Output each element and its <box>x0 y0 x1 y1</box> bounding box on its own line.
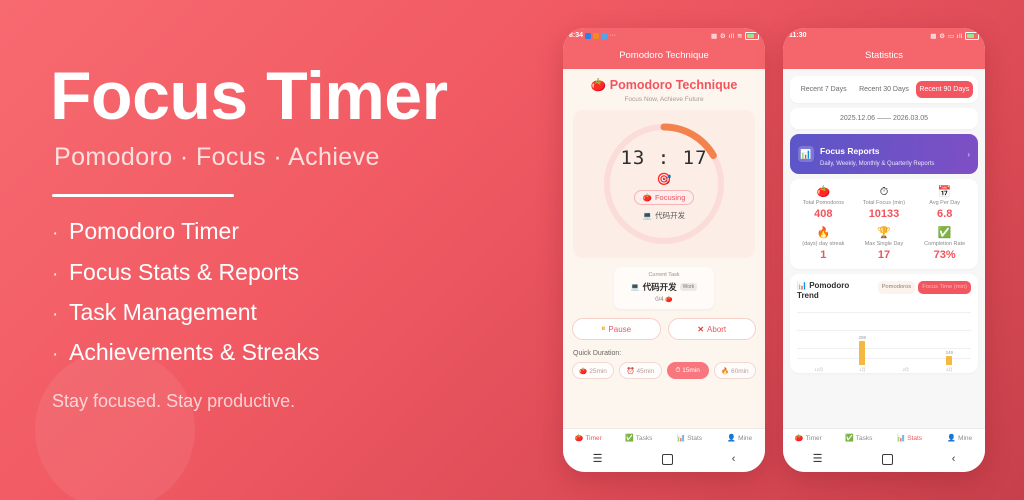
android-nav-bar: ☰ ‹ <box>783 446 985 472</box>
duration-label: 15min <box>682 367 700 374</box>
tab-label: Tasks <box>856 435 873 442</box>
chart-plot-area: 298 249 12月 1月 <box>797 308 971 373</box>
stat-value: 73% <box>914 249 975 261</box>
chart-bar-slot <box>884 317 928 365</box>
timer-ring: 13 : 17 🎯 🍅 Focusing 💻 代码开发 <box>598 118 730 250</box>
phone-mockup-statistics: 11:30 ▩ ⚙ ▭ ıll Statistics Recent 7 Days… <box>783 28 985 472</box>
current-task-card[interactable]: Current Task 💻 代码开发 Work 0/4 🍅 <box>614 267 714 309</box>
timer-controls: ⏸ Pause ✕ Abort <box>572 318 756 340</box>
brand-title-row: 🍅 Pomodoro Technique <box>563 78 765 93</box>
pomodoro-trend-chart: 📊 Pomodoro Trend Pomodoros Focus Time (m… <box>790 274 978 373</box>
chevron-right-icon: › <box>967 150 970 159</box>
tab-label: Tasks <box>636 435 653 442</box>
quick-duration-options: 🍅 25min ⏰ 45min ⏱ 15min 🔥 60min <box>572 362 756 379</box>
page-title: Focus Timer <box>50 62 520 131</box>
duration-option-45[interactable]: ⏰ 45min <box>619 362 661 379</box>
timer-card: 13 : 17 🎯 🍅 Focusing 💻 代码开发 <box>573 110 755 258</box>
divider <box>52 194 234 197</box>
feature-label: Pomodoro Timer <box>69 219 239 244</box>
tab-mine[interactable]: 👤 Mine <box>935 434 986 442</box>
status-badge: 🍅 Focusing <box>634 190 695 205</box>
category-label: 12月 <box>797 367 841 373</box>
app-bar-title: Pomodoro Technique <box>563 43 765 69</box>
tab-label: Timer <box>805 435 821 442</box>
segment-recent-7-days[interactable]: Recent 7 Days <box>795 81 852 98</box>
current-task-name: 代码开发 <box>643 281 677 293</box>
category-label: 2月 <box>884 367 928 373</box>
promo-banner: Focus Timer Pomodoro · Focus · Achieve ·… <box>0 0 1024 500</box>
feature-item: · Task Management <box>52 300 520 325</box>
battery-icon <box>965 32 979 40</box>
feature-item: · Focus Stats & Reports <box>52 260 520 285</box>
bar-value-label: 298 <box>858 335 866 340</box>
menu-icon[interactable]: ☰ <box>593 454 603 465</box>
bullet-icon: · <box>52 305 69 324</box>
chart-icon: 📊 <box>797 281 807 290</box>
app-icon-orange <box>593 33 599 39</box>
stat-avg-per-day: 📅 Avg Per Day 6.8 <box>914 186 975 220</box>
chart-bar-slot: 249 <box>928 317 972 365</box>
quick-duration-heading: Quick Duration: <box>573 350 765 357</box>
stopwatch-icon: ⏱ <box>675 367 680 374</box>
duration-option-25[interactable]: 🍅 25min <box>572 362 614 379</box>
back-icon[interactable]: ‹ <box>732 454 736 465</box>
status-bar: 8:34 ··· ▩ ⚙ ıll ≋ <box>563 28 765 43</box>
status-bar-time: 11:30 <box>789 32 807 39</box>
bar-value-label: 249 <box>945 350 953 355</box>
tab-timer[interactable]: 🍅 Timer <box>563 434 614 442</box>
chart-title-row: 📊 Pomodoro Trend <box>797 281 857 301</box>
feature-label: Focus Stats & Reports <box>69 260 299 285</box>
statistics-screen: Recent 7 Days Recent 30 Days Recent 90 D… <box>783 69 985 428</box>
brand-title: Pomodoro Technique <box>610 78 738 92</box>
category-label: 1月 <box>841 367 885 373</box>
target-icon: 🎯 <box>657 173 672 185</box>
chart-icon: 📊 <box>676 434 685 442</box>
stat-day-streak: 🔥 (days) day streak 1 <box>793 227 854 261</box>
feature-label: Achievements & Streaks <box>69 340 320 365</box>
status-bar-indicators: ▩ ⚙ ıll ≋ <box>711 32 759 40</box>
chart-icon: 📊 <box>798 146 814 162</box>
timer-screen: 🍅 Pomodoro Technique Focus Now, Achieve … <box>563 69 765 428</box>
tab-label: Mine <box>958 435 972 442</box>
chart-bar-slot <box>797 317 841 365</box>
trophy-icon: 🏆 <box>854 227 915 239</box>
duration-option-60[interactable]: 🔥 60min <box>714 362 756 379</box>
person-icon: 👤 <box>947 434 956 442</box>
pause-button[interactable]: ⏸ Pause <box>572 318 661 340</box>
chart-category-labels: 12月 1月 2月 3月 <box>797 367 971 373</box>
tab-tasks[interactable]: ✅ Tasks <box>834 434 885 442</box>
feature-item: · Pomodoro Timer <box>52 219 520 244</box>
stat-completion-rate: ✅ Completion Rate 73% <box>914 227 975 261</box>
stat-value: 1 <box>793 249 854 261</box>
home-icon[interactable] <box>662 454 673 465</box>
battery-icon <box>745 32 759 40</box>
focus-reports-title: Focus Reports <box>820 146 880 156</box>
feature-label: Task Management <box>69 300 257 325</box>
range-segmented-control: Recent 7 Days Recent 30 Days Recent 90 D… <box>790 76 978 103</box>
stat-value: 10133 <box>854 208 915 220</box>
focus-reports-banner[interactable]: 📊 Focus Reports Daily, Weekly, Monthly &… <box>790 134 978 174</box>
chart-bar-slot: 298 <box>841 317 885 365</box>
stat-value: 17 <box>854 249 915 261</box>
stat-label: Total Focus (min) <box>854 200 915 206</box>
task-tag-badge: Work <box>680 283 698 291</box>
duration-label: 60min <box>731 368 749 375</box>
stats-grid: 🍅 Total Pomodoros 408 ⏱ Total Focus (min… <box>790 179 978 269</box>
fire-icon: 🔥 <box>721 368 729 375</box>
stat-label: Max Single Day <box>854 241 915 247</box>
tagline: Stay focused. Stay productive. <box>52 391 520 412</box>
stat-value: 6.8 <box>914 208 975 220</box>
status-bar-time: 8:34 <box>569 32 583 39</box>
tomato-icon: 🍅 <box>665 297 672 303</box>
bar <box>946 356 952 365</box>
hero-panel: Focus Timer Pomodoro · Focus · Achieve ·… <box>50 62 520 412</box>
stat-label: (days) day streak <box>793 241 854 247</box>
close-icon: ✕ <box>697 325 704 334</box>
timer-display: 13 : 17 <box>620 147 707 169</box>
calendar-icon: 📅 <box>914 186 975 198</box>
abort-button[interactable]: ✕ Abort <box>668 318 757 340</box>
tab-mine[interactable]: 👤 Mine <box>715 434 766 442</box>
check-icon: ✅ <box>914 227 975 239</box>
signal-icons: ▩ ⚙ ▭ ıll <box>930 32 963 40</box>
bottom-tab-bar: 🍅 Timer ✅ Tasks 📊 Stats 👤 Mine <box>783 428 985 446</box>
focus-reports-subtitle: Daily, Weekly, Monthly & Quarterly Repor… <box>820 161 934 167</box>
stat-label: Total Pomodoros <box>793 200 854 206</box>
tab-label: Timer <box>585 435 601 442</box>
check-icon: ✅ <box>845 434 854 442</box>
bottom-tab-bar: 🍅 Timer ✅ Tasks 📊 Stats 👤 Mine <box>563 428 765 446</box>
home-icon[interactable] <box>882 454 893 465</box>
android-nav-bar: ☰ ‹ <box>563 446 765 472</box>
pause-button-label: Pause <box>608 325 631 334</box>
bullet-icon: · <box>52 224 69 243</box>
app-icon-cyan <box>601 33 607 39</box>
tab-label: Mine <box>738 435 752 442</box>
chart-icon: 📊 <box>896 434 905 442</box>
bullet-icon: · <box>52 265 69 284</box>
brand-header: 🍅 Pomodoro Technique Focus Now, Achieve … <box>563 69 765 103</box>
app-bar-title: Statistics <box>783 43 985 69</box>
person-icon: 👤 <box>727 434 736 442</box>
duration-label: 45min <box>636 368 654 375</box>
feature-item: · Achievements & Streaks <box>52 340 520 365</box>
task-count-value: 0/4 <box>655 297 663 303</box>
tomato-icon: 🍅 <box>575 434 584 442</box>
tomato-icon: 🍅 <box>579 368 587 375</box>
tab-tasks[interactable]: ✅ Tasks <box>614 434 665 442</box>
tomato-icon: 🍅 <box>643 193 652 202</box>
app-icon-blue <box>585 33 591 39</box>
abort-button-label: Abort <box>707 325 726 334</box>
active-task-label: 代码开发 <box>655 210 685 221</box>
status-bar-indicators: ▩ ⚙ ▭ ıll <box>930 32 979 40</box>
task-progress-count: 0/4 🍅 <box>620 296 708 303</box>
alarm-icon: ⏰ <box>627 368 635 375</box>
phone-mockup-timer: 8:34 ··· ▩ ⚙ ıll ≋ Pomodoro Technique 🍅 … <box>563 28 765 472</box>
stat-total-focus: ⏱ Total Focus (min) 10133 <box>854 186 915 220</box>
status-bar: 11:30 ▩ ⚙ ▭ ıll <box>783 28 985 43</box>
timer-center: 13 : 17 🎯 🍅 Focusing 💻 代码开发 <box>598 118 730 250</box>
chart-bars: 298 249 <box>797 317 971 365</box>
stat-total-pomodoros: 🍅 Total Pomodoros 408 <box>793 186 854 220</box>
tomato-icon: 🍅 <box>793 186 854 198</box>
laptop-icon: 💻 <box>643 211 652 220</box>
tomato-icon: 🍅 <box>591 78 607 92</box>
chart-toggle-pomodoros[interactable]: Pomodoros <box>878 281 916 294</box>
stat-label: Avg Per Day <box>914 200 975 206</box>
stat-max-single-day: 🏆 Max Single Day 17 <box>854 227 915 261</box>
check-icon: ✅ <box>625 434 634 442</box>
pause-icon: ⏸ <box>601 324 605 334</box>
date-range-label: 2025.12.06 —— 2026.03.05 <box>790 108 978 129</box>
tomato-icon: 🍅 <box>795 434 804 442</box>
tab-stats[interactable]: 📊 Stats <box>884 434 935 442</box>
laptop-icon: 💻 <box>631 283 640 291</box>
active-task-row: 💻 代码开发 <box>643 210 685 221</box>
stat-label: Completion Rate <box>914 241 975 247</box>
fire-icon: 🔥 <box>793 227 854 239</box>
tab-stats[interactable]: 📊 Stats <box>664 434 715 442</box>
signal-icons: ▩ ⚙ ıll ≋ <box>711 32 743 40</box>
tab-label: Stats <box>687 435 702 442</box>
bar <box>859 341 865 365</box>
stopwatch-icon: ⏱ <box>854 186 915 198</box>
category-label: 3月 <box>928 367 972 373</box>
stat-value: 408 <box>793 208 854 220</box>
back-icon[interactable]: ‹ <box>952 454 956 465</box>
chart-toggle-focus-time[interactable]: Focus Time (min) <box>918 281 971 294</box>
overflow-dots-icon: ··· <box>609 32 616 39</box>
duration-option-15[interactable]: ⏱ 15min <box>667 362 709 379</box>
current-task-heading: Current Task <box>620 272 708 278</box>
status-badge-label: Focusing <box>655 193 685 202</box>
tab-label: Stats <box>907 435 922 442</box>
segment-recent-90-days[interactable]: Recent 90 Days <box>916 81 973 98</box>
gridline <box>797 312 971 313</box>
segment-recent-30-days[interactable]: Recent 30 Days <box>855 81 912 98</box>
chart-metric-toggle: Pomodoros Focus Time (min) <box>878 281 971 294</box>
hero-subtitle: Pomodoro · Focus · Achieve <box>54 143 520 172</box>
menu-icon[interactable]: ☰ <box>813 454 823 465</box>
bullet-icon: · <box>52 345 69 364</box>
tab-timer[interactable]: 🍅 Timer <box>783 434 834 442</box>
duration-label: 25min <box>589 368 607 375</box>
brand-subtitle: Focus Now, Achieve Future <box>563 96 765 103</box>
